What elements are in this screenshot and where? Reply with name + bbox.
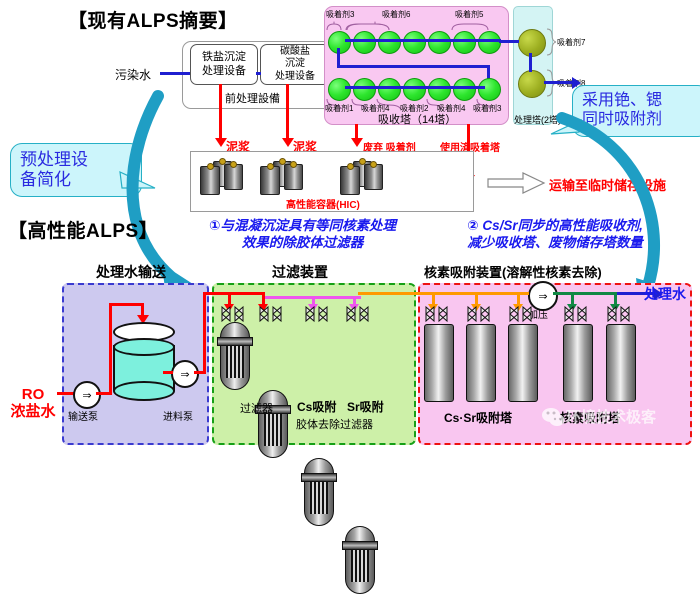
callout-text: 预处理设 备简化 — [20, 150, 88, 189]
tank-to-feedpump-line — [163, 371, 173, 374]
page-title-high-performance-alps: 【高性能ALPS】 — [8, 216, 158, 243]
nuclide-header-line-orange — [412, 292, 520, 295]
valve-icon — [563, 305, 589, 323]
filter-flange — [301, 473, 337, 482]
valve-icon — [466, 305, 492, 323]
storage-tank-bottom — [113, 381, 175, 401]
valve-icon — [345, 305, 371, 323]
adsorbent-circle[interactable] — [328, 78, 351, 101]
filter-element-stripes — [310, 482, 328, 514]
filter-valve-pair — [304, 305, 330, 328]
treatment-brace-7 — [546, 28, 556, 56]
valve-icon — [258, 305, 284, 323]
valve-icon — [424, 305, 450, 323]
page-title-existing-alps: 【现有ALPS摘要】 — [68, 6, 238, 33]
adsorbent-group-label-top-1: 吸着剂3 — [326, 9, 354, 20]
hic-label: 高性能容器(HIC) — [286, 196, 360, 211]
adsorbent-group-label-top-2: 吸着剂6 — [382, 9, 410, 20]
feed-pump[interactable]: ⇒ — [171, 360, 199, 388]
filter-element-stripes — [264, 414, 282, 446]
sludge-arrow-line-2 — [286, 84, 289, 142]
adsorbent-circle[interactable] — [353, 78, 376, 101]
section-heading-water-transfer: 处理水输送 — [96, 262, 166, 282]
filter-valve-pair — [345, 305, 371, 328]
riser-vertical-line — [109, 303, 112, 395]
treatment-adsorbent-circle-8[interactable] — [518, 70, 546, 98]
unit-line-2: 处理设备 — [202, 65, 246, 78]
unit-line-1: 碳酸盐 — [280, 46, 310, 58]
treatment-tower-vertical-link — [529, 53, 532, 72]
filter-header-line-orange — [358, 292, 418, 295]
adsorbent-circle[interactable] — [428, 31, 451, 54]
filter-header-line-red — [203, 292, 265, 295]
valve-icon — [508, 305, 534, 323]
cs-adsorption-vessel[interactable] — [304, 458, 334, 526]
absorber-tower-caption: 吸收塔（14塔） — [378, 111, 456, 127]
nuclide-adsorption-tower[interactable] — [606, 324, 636, 402]
contaminated-water-label: 污染水 — [115, 66, 151, 83]
cs-sr-adsorption-tower[interactable] — [508, 324, 538, 402]
bottom-row-connector — [345, 86, 485, 89]
valve-icon — [606, 305, 632, 323]
adsorbent-circle[interactable] — [428, 78, 451, 101]
hic-drum — [340, 166, 360, 195]
filter-vessel[interactable] — [220, 322, 250, 390]
section-heading-filtration: 过滤装置 — [272, 262, 328, 282]
adsorbent-group-label-bottom-1: 吸着剂1 — [325, 103, 353, 114]
unit-line-1: 铁盐沉淀 — [202, 51, 246, 64]
valve-icon — [304, 305, 330, 323]
inlet-label-ro-brine: RO 浓盐水 — [7, 387, 59, 420]
serpentine-horizontal — [337, 65, 489, 68]
waste-adsorbent-arrowhead — [351, 138, 363, 147]
cs-adsorb-label: Cs吸附 — [297, 398, 336, 415]
transfer-pump[interactable]: ⇒ — [73, 381, 101, 409]
adsorbent-group-label-bottom-5: 吸着剂3 — [473, 103, 501, 114]
nuclide-adsorption-tower[interactable] — [563, 324, 593, 402]
filter-element-stripes — [351, 550, 369, 582]
absorber-to-treatment-line — [499, 40, 519, 43]
pressurize-inlet-line — [517, 292, 529, 295]
adsorbent-circle[interactable] — [453, 78, 476, 101]
valve-icon — [220, 305, 246, 323]
transport-hollow-arrow — [487, 172, 547, 194]
treatment-adsorbent-label-7: 吸着剂7 — [557, 37, 585, 48]
colloid-removal-filter-label: 胶体去除过滤器 — [296, 416, 373, 432]
sr-adsorb-label: Sr吸附 — [347, 398, 384, 415]
inflow-connector-line — [160, 72, 190, 75]
adsorbent-circle[interactable] — [453, 31, 476, 54]
filter-flange — [342, 541, 378, 550]
adsorbent-circle[interactable] — [378, 78, 401, 101]
cs-sr-adsorption-tower[interactable] — [466, 324, 496, 402]
improvement-item-2: ② Cs/Sr同步的高性能吸收剂, 减少吸收塔、废物储存塔数量 — [424, 218, 686, 252]
treatment-adsorbent-circle-7[interactable] — [518, 29, 546, 57]
improvement-item-1: ①与混凝沉淀具有等同核素处理 效果的除胶体过滤器 — [190, 218, 415, 252]
filter-label: 过滤器 — [240, 400, 273, 416]
adsorbent-circle[interactable] — [353, 31, 376, 54]
section-heading-nuclide-adsorption: 核素吸附装置(溶解性核素去除) — [424, 262, 602, 281]
pretreat-interconnect-line — [256, 72, 261, 75]
watermark-text: 环境技术极客 — [566, 406, 656, 427]
adsorbent-circle[interactable] — [403, 78, 426, 101]
transfer-pump-label: 输送泵 — [68, 408, 98, 423]
adsorbent-group-label-top-3: 吸着剂5 — [455, 9, 483, 20]
wechat-logo-icon — [540, 406, 566, 428]
unit-line-3: 处理设备 — [275, 71, 315, 83]
adsorbent-circle[interactable] — [403, 31, 426, 54]
tank-inlet-top-line — [109, 303, 144, 306]
adsorbent-circle[interactable] — [478, 78, 501, 101]
hic-drum-cap — [370, 161, 377, 168]
hic-drum-cap — [347, 163, 354, 170]
feed-pump-label: 进料泵 — [163, 408, 193, 423]
treated-water-label: 处理水 — [644, 284, 686, 304]
adsorbent-circle[interactable] — [378, 31, 401, 54]
unit-line-2: 沉淀 — [285, 58, 305, 70]
filter-flange — [217, 337, 253, 346]
feed-riser-line — [203, 292, 206, 374]
filter-element-stripes — [226, 346, 244, 378]
storage-tank-liquid-surface — [113, 338, 175, 356]
sr-adsorption-vessel[interactable] — [345, 526, 375, 594]
unit-iron-salt-precipitation[interactable]: 铁盐沉淀 处理设备 — [190, 44, 258, 85]
cs-sr-adsorption-tower[interactable] — [424, 324, 454, 402]
treated-outlet-line — [544, 81, 574, 84]
adsorbent-circle[interactable] — [478, 31, 501, 54]
hic-drum-cap — [290, 161, 297, 168]
filter-valve-pair — [258, 305, 284, 328]
top-row-connector — [345, 39, 501, 42]
cs-sr-tower-label: Cs·Sr吸附塔 — [444, 409, 512, 426]
unit-carbonate-precipitation[interactable]: 碳酸盐 沉淀 处理设备 — [260, 44, 330, 85]
nuclide-header-line-teal — [553, 292, 617, 295]
